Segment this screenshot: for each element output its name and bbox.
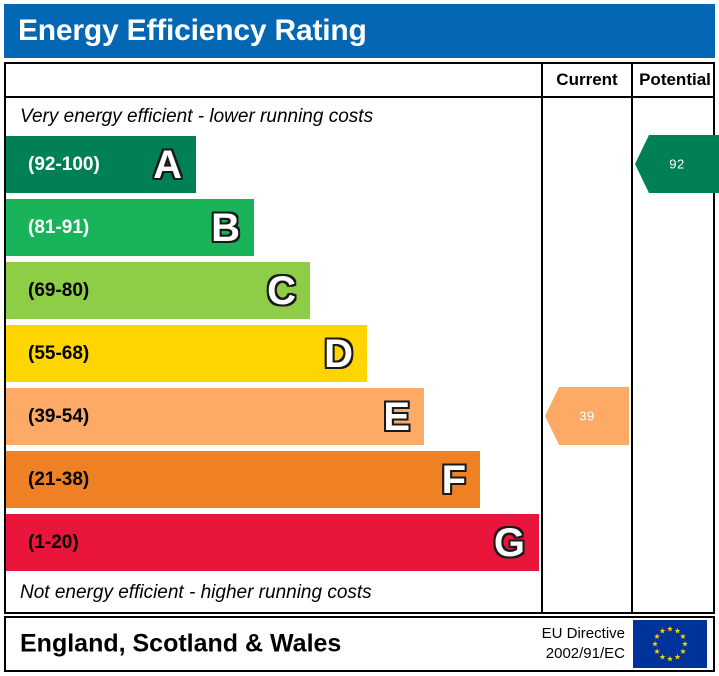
band-range-f: (21-38): [28, 469, 89, 491]
footer-directive-line1: EU Directive: [542, 624, 625, 644]
band-row-e: (39-54)E: [6, 388, 424, 445]
rating-table: Current Potential Very energy efficient …: [4, 62, 715, 614]
band-letter-c: C: [267, 271, 296, 311]
column-header-potential: Potential: [633, 64, 717, 96]
caption-efficient: Very energy efficient - lower running co…: [6, 98, 539, 136]
title-bar: Energy Efficiency Rating: [4, 4, 715, 58]
column-divider-current: [541, 64, 543, 612]
caption-inefficient: Not energy efficient - higher running co…: [6, 574, 539, 612]
footer-directive: EU Directive 2002/91/EC: [542, 624, 625, 665]
band-letter-e: E: [383, 397, 410, 437]
rating-value-current: 39: [579, 409, 594, 424]
column-header-current: Current: [543, 64, 631, 96]
band-letter-d: D: [324, 334, 353, 374]
page-title: Energy Efficiency Rating: [18, 14, 367, 48]
rating-value-potential: 92: [669, 157, 684, 172]
band-row-a: (92-100)A: [6, 136, 196, 193]
footer-region-label: England, Scotland & Wales: [20, 630, 341, 659]
energy-efficiency-certificate: Energy Efficiency Rating Current Potenti…: [0, 0, 719, 676]
band-range-e: (39-54): [28, 406, 89, 428]
band-letter-b: B: [211, 208, 240, 248]
footer-bar: England, Scotland & Wales EU Directive 2…: [4, 616, 715, 672]
band-range-c: (69-80): [28, 280, 89, 302]
band-row-b: (81-91)B: [6, 199, 254, 256]
band-range-a: (92-100): [28, 154, 100, 176]
band-letter-g: G: [494, 523, 525, 563]
band-range-b: (81-91): [28, 217, 89, 239]
eu-flag-icon: [633, 620, 707, 668]
band-range-d: (55-68): [28, 343, 89, 365]
band-list: (92-100)A(81-91)B(69-80)C(55-68)D(39-54)…: [6, 136, 539, 574]
band-letter-a: A: [153, 145, 182, 185]
rating-arrow-potential: 92: [635, 135, 719, 193]
band-range-g: (1-20): [28, 532, 79, 554]
footer-directive-line2: 2002/91/EC: [542, 644, 625, 664]
column-divider-potential: [631, 64, 633, 612]
band-row-d: (55-68)D: [6, 325, 367, 382]
band-row-f: (21-38)F: [6, 451, 480, 508]
rating-arrow-current: 39: [545, 387, 629, 445]
band-letter-f: F: [442, 460, 466, 500]
band-row-g: (1-20)G: [6, 514, 539, 571]
band-row-c: (69-80)C: [6, 262, 310, 319]
